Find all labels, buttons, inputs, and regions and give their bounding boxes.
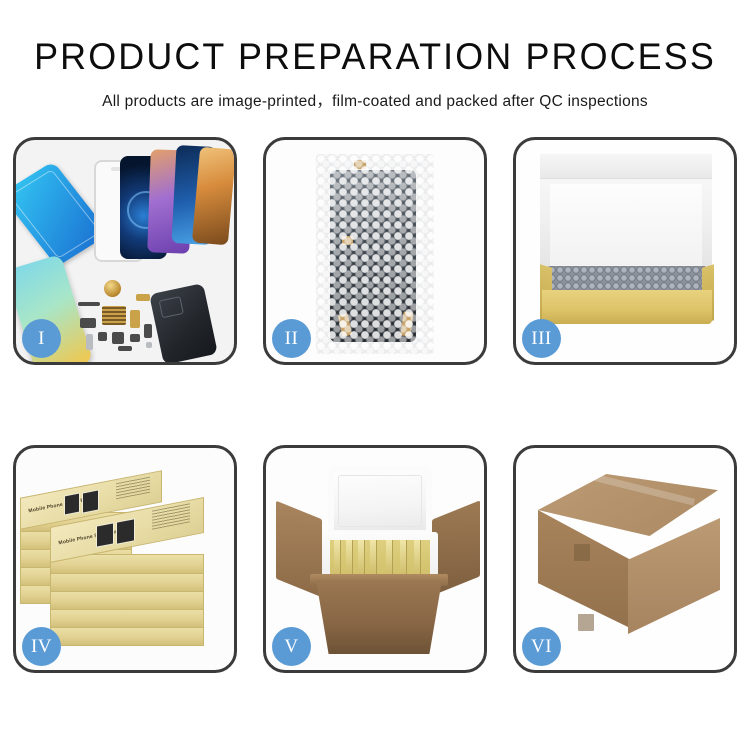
step-panel-2[interactable]: II — [263, 137, 487, 365]
carton-tab-lower — [578, 614, 594, 631]
box-lid-fold — [540, 154, 712, 179]
stacked-box — [50, 626, 204, 646]
page-header: PRODUCT PREPARATION PROCESS All products… — [0, 0, 750, 111]
step-panel-6[interactable]: VI — [513, 445, 737, 673]
process-steps-grid: I II III — [13, 137, 737, 673]
stacked-box — [50, 608, 204, 628]
step-panel-5[interactable]: V — [263, 445, 487, 673]
gold-phone — [192, 147, 234, 246]
carton-body — [316, 580, 442, 654]
box-window-front-a — [96, 522, 114, 547]
step-badge-5: V — [272, 627, 311, 666]
bubble-wrap-sheet — [316, 154, 434, 354]
step-badge-2: II — [272, 319, 311, 358]
step-panel-3[interactable]: III — [513, 137, 737, 365]
step-panel-1[interactable]: I — [13, 137, 237, 365]
stacked-box — [50, 572, 204, 592]
stacked-box — [50, 590, 204, 610]
step-badge-6: VI — [522, 627, 561, 666]
foam-cooler-lid — [328, 466, 432, 536]
step-badge-4: IV — [22, 627, 61, 666]
box-window-front-b — [116, 518, 135, 545]
page-subtitle: All products are image-printed，film-coat… — [0, 89, 750, 111]
box-front-panel — [542, 290, 712, 324]
foam-sheet — [550, 184, 702, 272]
step-panel-4[interactable]: Mobile Phone Spare Parts Mobile Phone Sp… — [13, 445, 237, 673]
step-badge-3: III — [522, 319, 561, 358]
carton-tab-upper — [574, 544, 590, 561]
box-window-rear-a — [64, 492, 80, 515]
box-window-rear-b — [82, 489, 99, 513]
carton-right-face — [628, 518, 720, 634]
step-badge-1: I — [22, 319, 61, 358]
page-title: PRODUCT PREPARATION PROCESS — [11, 38, 739, 75]
bubble-texture-overlay — [316, 154, 434, 354]
spare-parts-cluster — [78, 280, 170, 360]
